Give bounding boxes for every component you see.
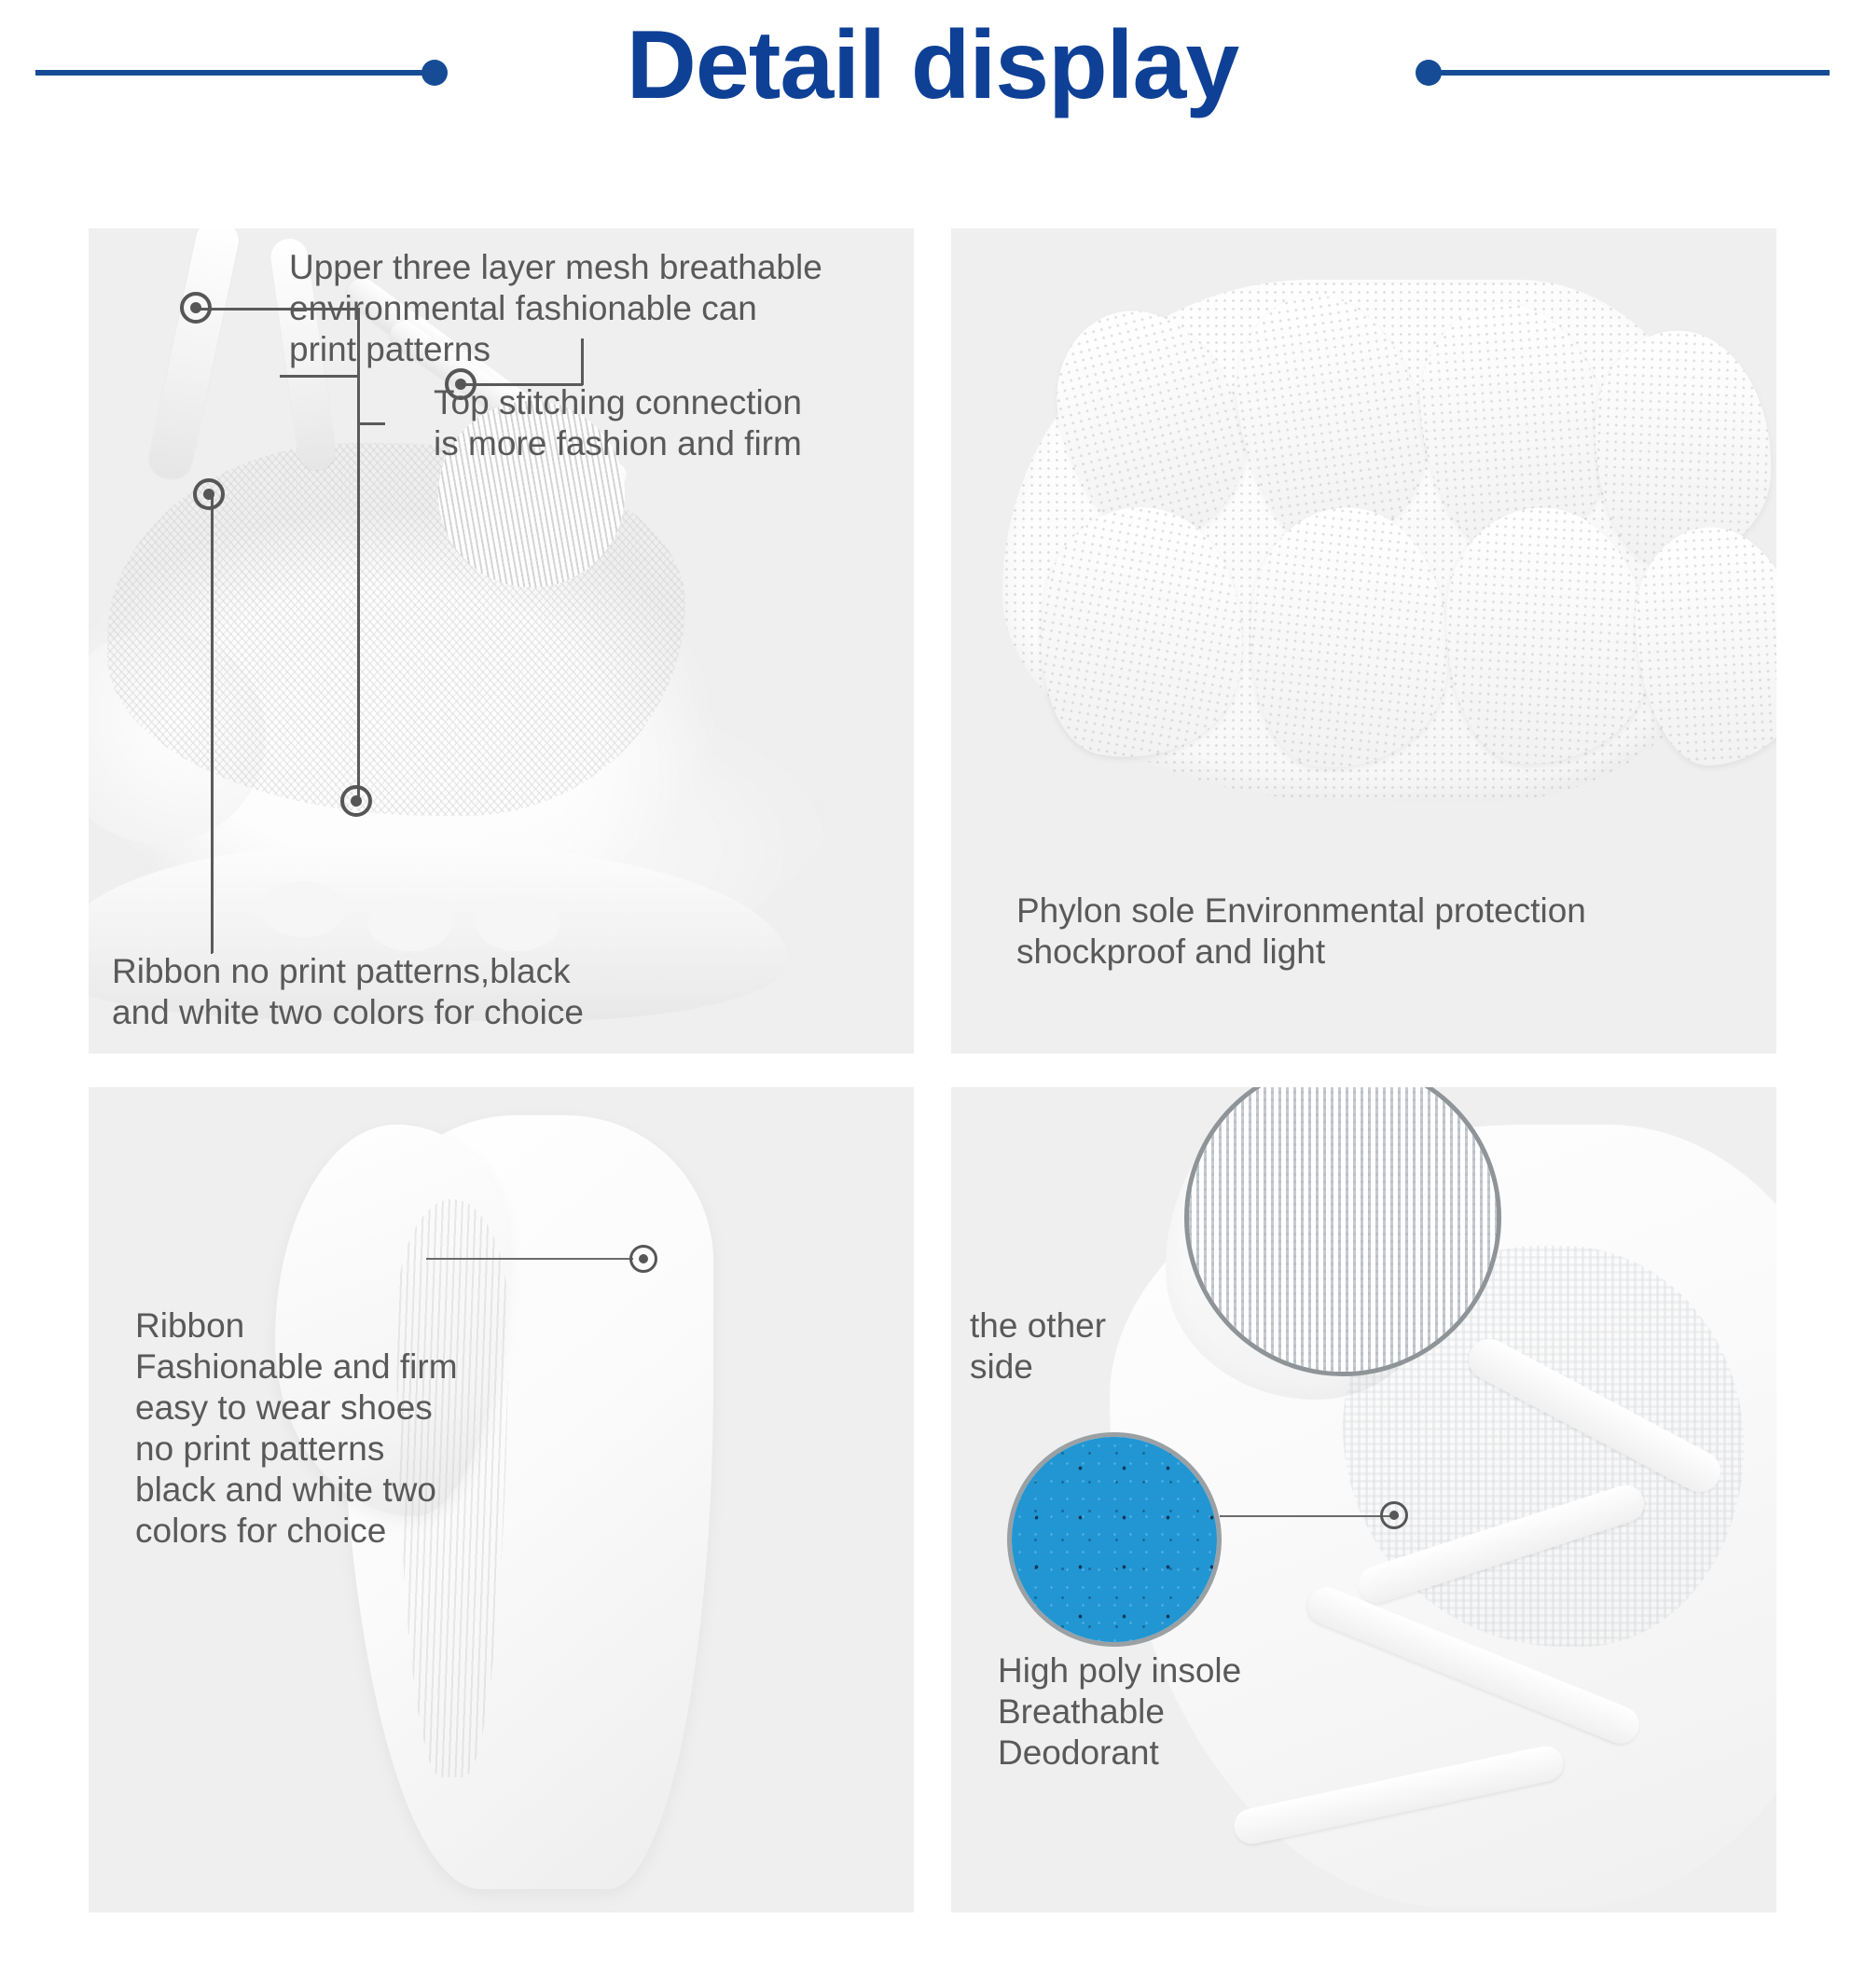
leader-line: [357, 422, 385, 425]
page-title: Detail display: [0, 7, 1865, 124]
header-rule-right: [1429, 70, 1830, 76]
caption-high-poly-insole: High poly insole Breathable Deodorant: [998, 1650, 1389, 1774]
tread-block: [1591, 328, 1776, 567]
caption-the-other-side: the other side: [970, 1305, 1184, 1387]
detail-panel-insole: [951, 1087, 1776, 1912]
knit-texture: [1189, 1087, 1497, 1372]
caption-upper-mesh: Upper three layer mesh breathable enviro…: [289, 247, 905, 370]
leader-line: [357, 422, 360, 800]
callout-marker[interactable]: [180, 292, 212, 324]
leader-line: [426, 1258, 633, 1260]
callout-marker[interactable]: [193, 478, 225, 510]
leader-line: [280, 375, 359, 378]
callout-marker[interactable]: [629, 1245, 657, 1273]
insole-blue-foam: [1012, 1437, 1217, 1642]
callout-marker[interactable]: [1380, 1501, 1408, 1529]
tread-dot-texture: [1591, 328, 1776, 567]
insole-material-closeup: [1007, 1432, 1222, 1647]
midsole-notch: [261, 881, 345, 937]
midsole-notch: [368, 895, 452, 951]
caption-top-stitching: Top stitching connection is more fashion…: [434, 382, 919, 464]
caption-ribbon-no-print: Ribbon no print patterns,black and white…: [112, 951, 690, 1033]
caption-ribbon-fashion: Ribbon Fashionable and firm easy to wear…: [135, 1305, 583, 1552]
callout-marker[interactable]: [340, 785, 372, 817]
insole-mesh-closeup-inset: [1184, 1087, 1501, 1376]
caption-phylon-sole: Phylon sole Environmental protection sho…: [1016, 890, 1753, 973]
leader-line: [211, 494, 214, 953]
page-header: Detail display: [0, 0, 1865, 196]
midsole-notch: [476, 895, 559, 951]
leader-line: [1220, 1515, 1399, 1517]
